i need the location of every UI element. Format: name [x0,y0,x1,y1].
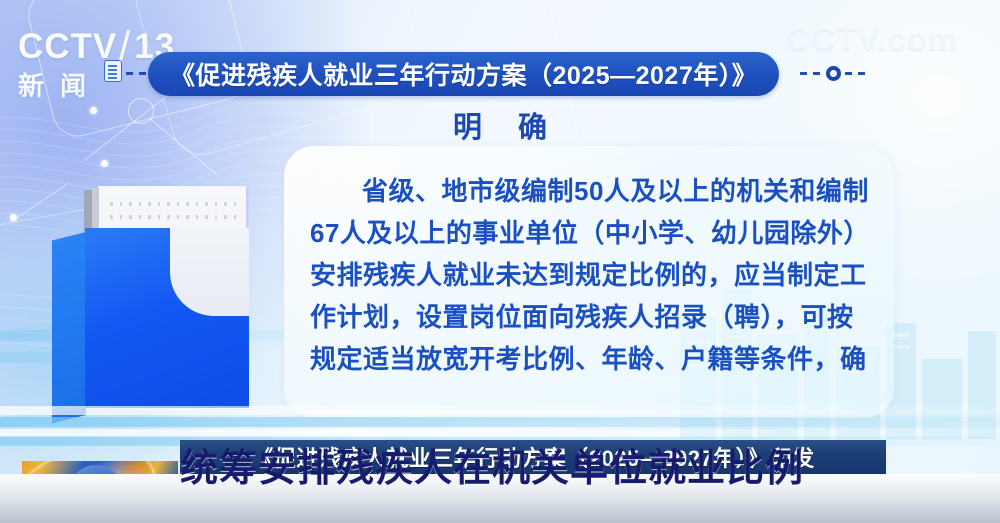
broadcast-frame: CCTV13 新闻 CCTV.com 《促进残疾人就业三年行动方案（2025—2… [0,0,1000,523]
title-row: 《促进残疾人就业三年行动方案（2025—2027年）》 [0,52,1000,96]
dashed-connector-right-2 [845,72,869,75]
policy-body-text: 省级、地市级编制50人及以上的机关和编制 67人及以上的事业单位（中小学、幼儿园… [310,170,870,381]
node-dot-3 [10,214,17,221]
policy-line-1: 省级、地市级编制50人及以上的机关和编制 [310,170,870,212]
page-title: 《促进残疾人就业三年行动方案（2025—2027年）》 [170,56,757,92]
section-subtitle: 明 确 [0,104,1000,146]
lower-third: 《促进残疾人就业三年行动方案（2025—2027年）》印发 统筹安排残疾人在机关… [0,440,1000,523]
endpoint-node-icon [826,66,841,81]
policy-line-3: 安排残疾人就业未达到规定比例的，应当制定工 [310,254,870,296]
dashed-connector-right [800,72,824,75]
policy-line-5: 规定适当放宽开考比例、年龄、户籍等条件，确 [310,338,870,380]
policy-line-2: 67人及以上的事业单位（中小学、幼儿园除外） [310,212,870,254]
folder-side-panel [52,232,86,423]
policy-line-4: 作计划，设置岗位面向残疾人招录（聘），可按 [310,296,870,338]
policy-content-card: 省级、地市级编制50人及以上的机关和编制 67人及以上的事业单位（中小学、幼儿园… [284,146,894,418]
policy-title-pill: 《促进残疾人就业三年行动方案（2025—2027年）》 [148,52,779,96]
document-folder-illustration [52,186,267,421]
folder-notch-cutout [170,228,249,316]
lower-third-headline: 统筹安排残疾人在机关单位就业比例 [180,437,804,492]
node-dot-2 [101,160,108,167]
lower-third-headline-wrap: 统筹安排残疾人在机关单位就业比例 [180,440,1000,489]
